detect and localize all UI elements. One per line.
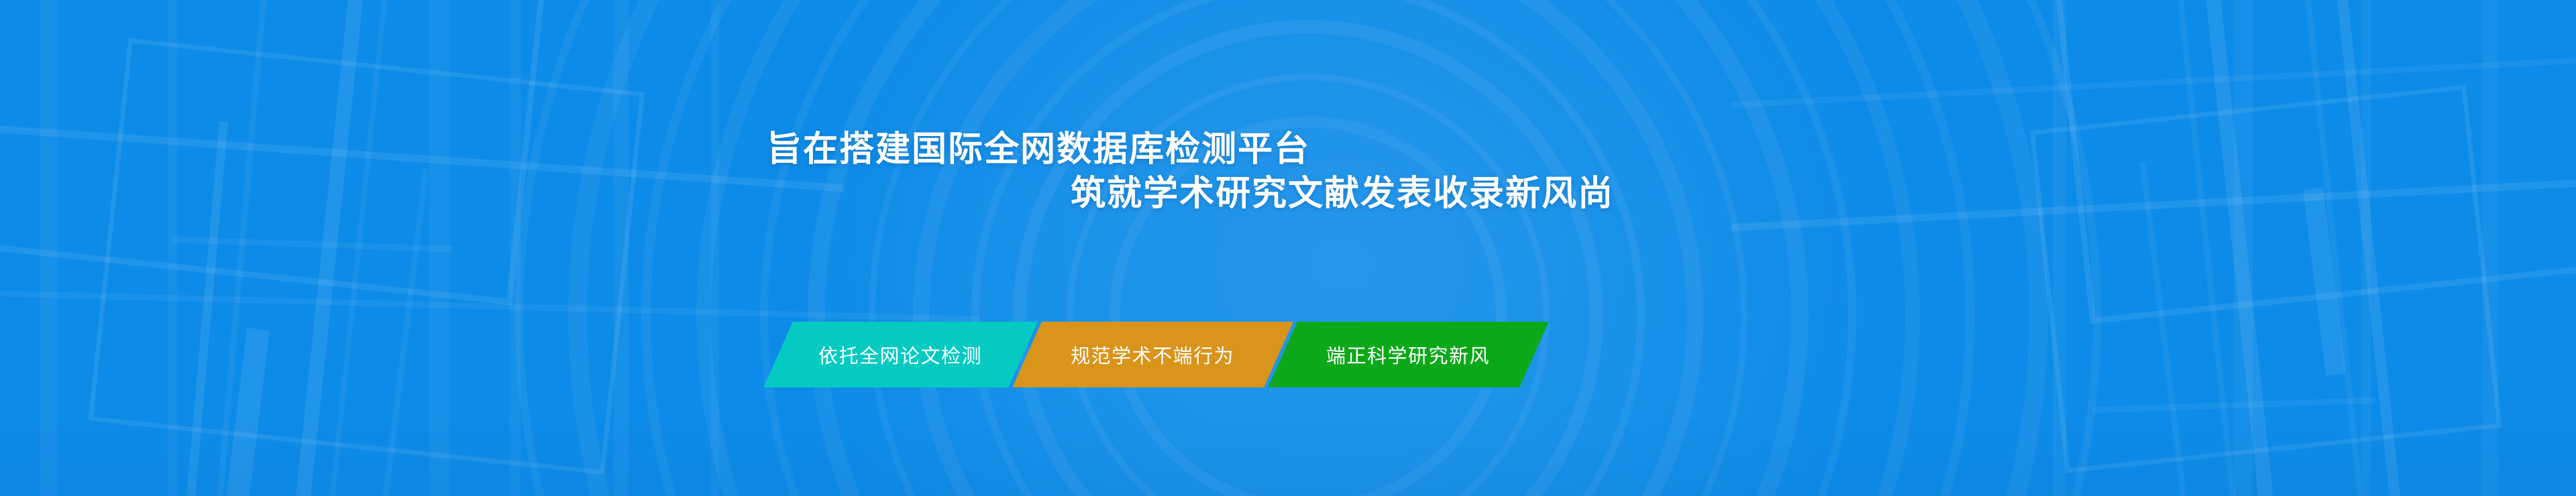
background-decoration: [0, 0, 2576, 496]
circuit-bar-right: [2304, 0, 2366, 496]
circuit-bar-left: [382, 168, 429, 496]
bg-stripe: [40, 0, 58, 496]
arc-ring: [515, 0, 2101, 496]
arc-ring: [568, 0, 2048, 496]
circuit-bar-left: [223, 328, 270, 496]
bg-stripe: [614, 0, 629, 496]
bg-stripe: [429, 0, 449, 496]
tag-academic-misconduct[interactable]: 规范学术不端行为: [1012, 322, 1293, 387]
tag-ribbon: 依托全网论文检测 规范学术不端行为 端正科学研究新风: [778, 322, 1534, 387]
circuit-bar-left: [329, 0, 388, 496]
arc-ring: [641, 0, 1975, 496]
bg-stripe: [2053, 0, 2066, 496]
arc-ring: [760, 0, 1856, 496]
arc-ring: [696, 0, 1920, 496]
circuit-bar-left: [0, 290, 979, 322]
tag-research-ethos[interactable]: 端正科学研究新风: [1268, 322, 1549, 387]
tag-label: 端正科学研究新风: [1326, 340, 1490, 369]
arc-ring: [808, 0, 1809, 496]
bg-stripe: [168, 0, 177, 496]
bg-stripe: [510, 0, 521, 496]
circuit-bar-right: [1731, 56, 2576, 108]
arc-ring: [1013, 20, 1603, 496]
center-glow: [771, 0, 1912, 496]
headline-block: 旨在搭建国际全网数据库检测平台 筑就学术研究文献发表收录新风尚: [0, 127, 2576, 216]
circuit-bar-left: [171, 237, 453, 253]
circuit-bar-right: [2093, 397, 2375, 414]
circuit-frame-left: [89, 38, 635, 464]
bg-stripe: [2234, 0, 2253, 496]
tag-label: 依托全网论文检测: [818, 340, 982, 369]
circuit-bar-right: [2177, 0, 2237, 496]
circuit-bar-left: [215, 0, 268, 496]
hero-banner: 旨在搭建国际全网数据库检测平台 筑就学术研究文献发表收录新风尚 依托全网论文检测…: [0, 0, 2576, 496]
circuit-bar-right: [2335, 0, 2404, 496]
headline-line-2: 筑就学术研究文献发表收录新风尚: [0, 172, 2576, 216]
headline-line-1: 旨在搭建国际全网数据库检测平台: [0, 127, 2576, 172]
tag-full-web-detection[interactable]: 依托全网论文检测: [763, 322, 1038, 387]
arc-ring: [913, 0, 1703, 496]
tag-label: 规范学术不端行为: [1071, 340, 1234, 369]
circuit-bar-left: [293, 0, 366, 496]
bottom-vignette: [0, 416, 2576, 496]
bg-stripe: [711, 0, 719, 496]
circuit-bar-right: [2204, 0, 2277, 496]
bg-stripe: [2361, 0, 2371, 496]
arc-ring: [971, 0, 1645, 496]
arc-ring: [869, 0, 1748, 496]
bg-stripe: [2482, 0, 2498, 496]
